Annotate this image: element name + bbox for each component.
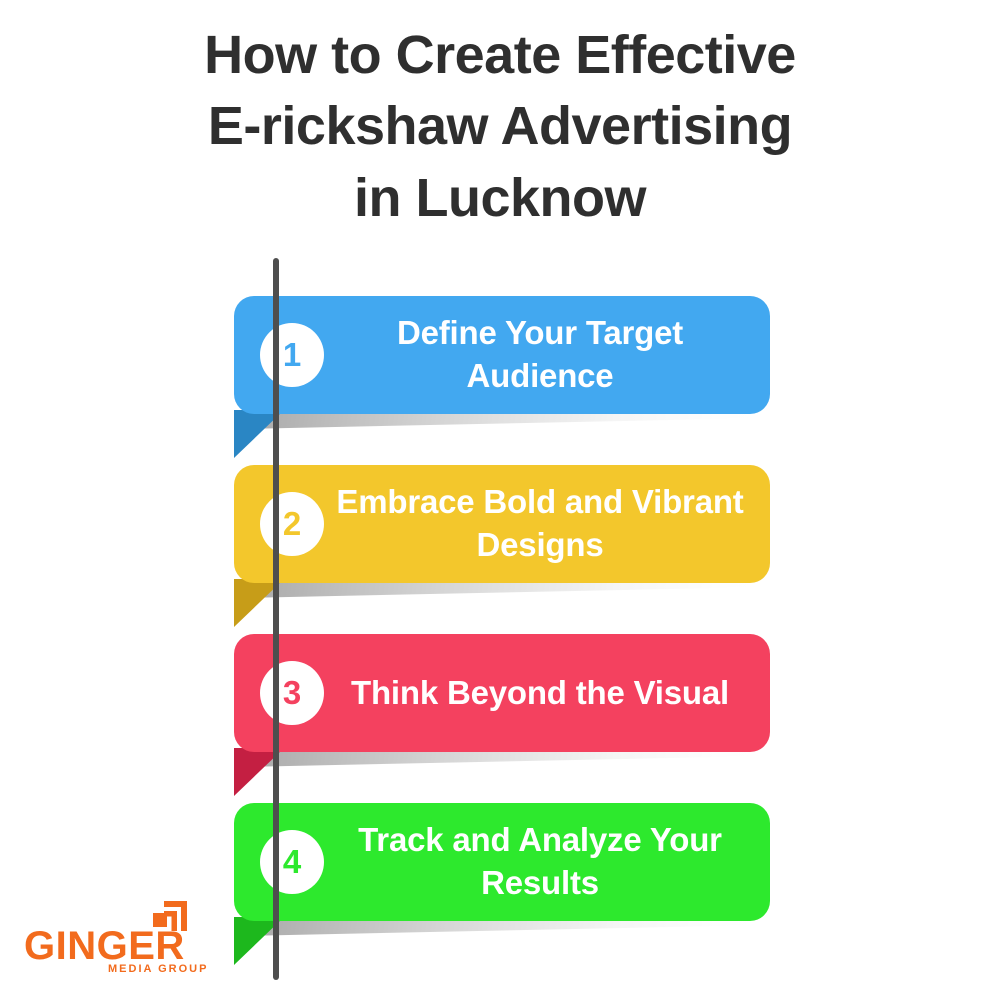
step-item-1[interactable]: 1 Define Your Target Audience [234,296,770,414]
step-banner[interactable]: 4 Track and Analyze Your Results [234,803,770,921]
step-item-3[interactable]: 3 Think Beyond the Visual [234,634,770,752]
step-number: 4 [283,843,301,881]
timeline-spine [273,258,279,980]
steps-list: 1 Define Your Target Audience 2 Embrace … [0,0,1000,1000]
banner-shadow [240,750,760,767]
step-number: 3 [283,674,301,712]
step-number-badge: 3 [260,661,324,725]
banner-shadow [240,581,760,598]
banner-shadow [240,919,760,936]
step-label: Define Your Target Audience [324,312,770,398]
step-item-4[interactable]: 4 Track and Analyze Your Results [234,803,770,921]
step-banner[interactable]: 3 Think Beyond the Visual [234,634,770,752]
step-banner[interactable]: 2 Embrace Bold and Vibrant Designs [234,465,770,583]
step-number-badge: 2 [260,492,324,556]
step-number-badge: 4 [260,830,324,894]
logo-tagline: MEDIA GROUP [108,963,208,975]
step-label: Think Beyond the Visual [324,672,770,715]
banner-shadow [240,412,760,429]
step-number: 2 [283,505,301,543]
brand-logo: GINGER MEDIA GROUP [24,900,214,972]
step-number-badge: 1 [260,323,324,387]
nested-squares-mark-icon [150,900,188,936]
step-number: 1 [283,336,301,374]
step-label: Track and Analyze Your Results [324,819,770,905]
step-label: Embrace Bold and Vibrant Designs [324,481,770,567]
step-item-2[interactable]: 2 Embrace Bold and Vibrant Designs [234,465,770,583]
step-banner[interactable]: 1 Define Your Target Audience [234,296,770,414]
